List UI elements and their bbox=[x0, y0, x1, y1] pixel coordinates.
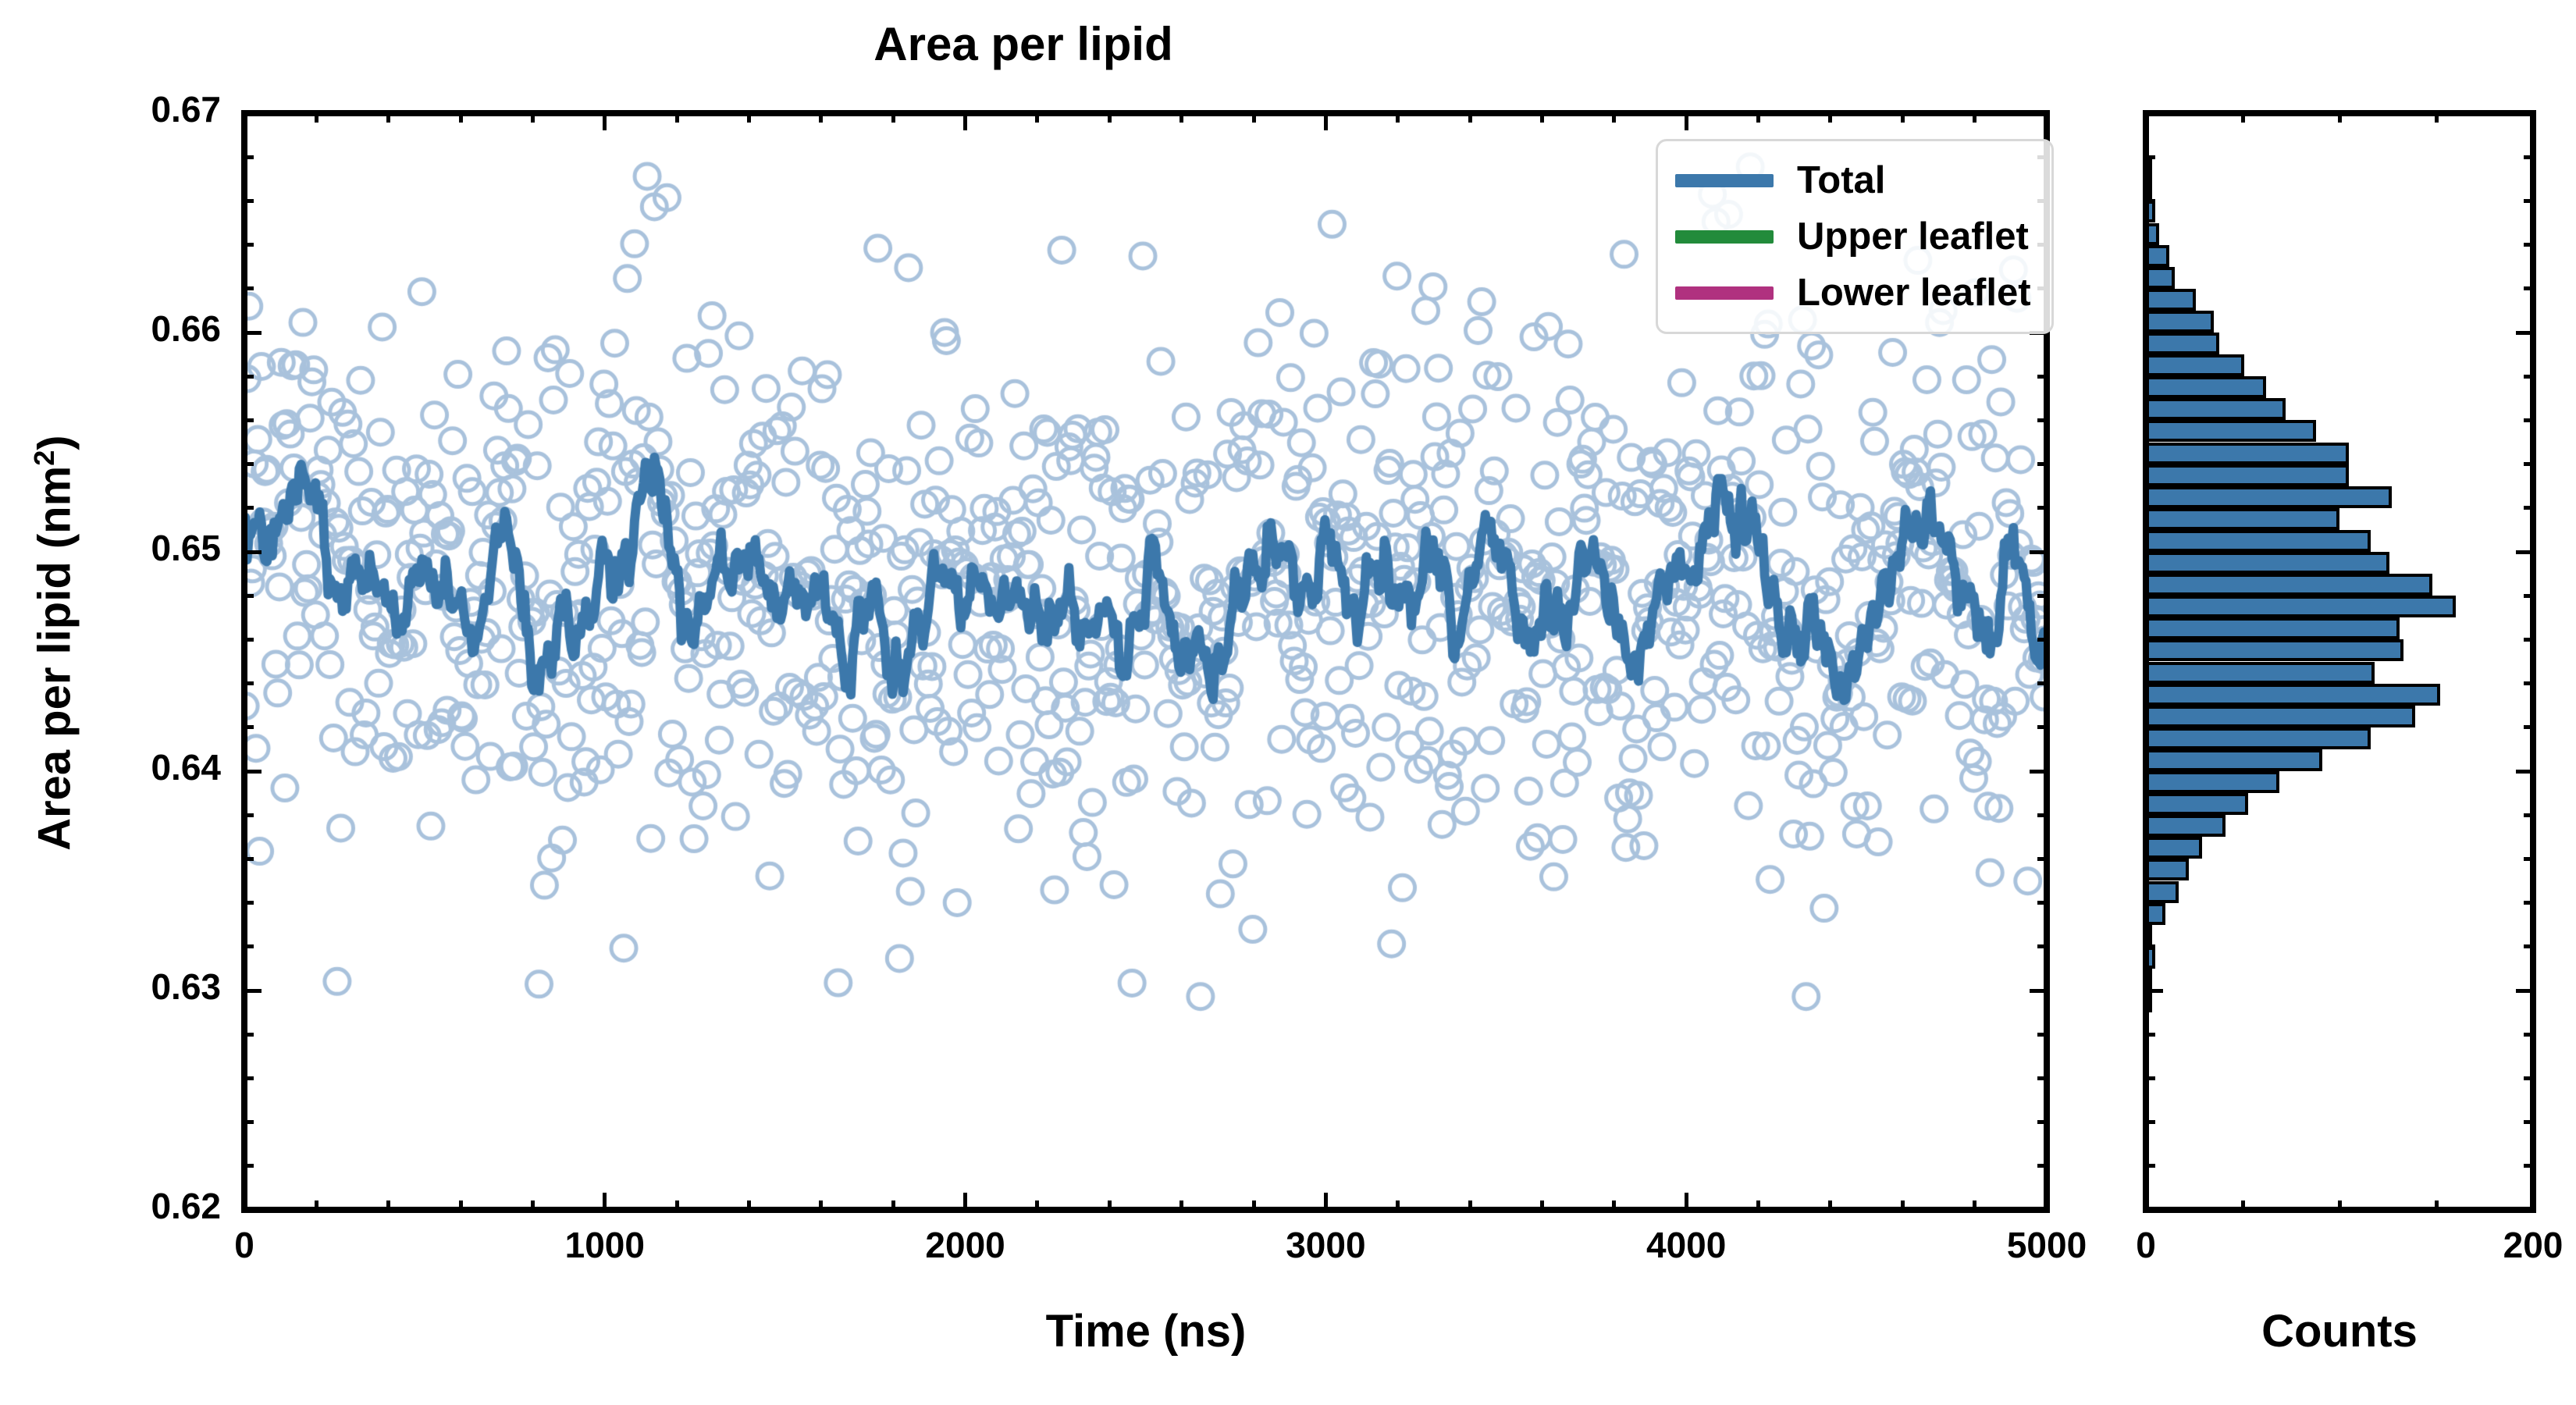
y-minor-tick bbox=[244, 594, 254, 598]
chart-title: Area per lipid bbox=[0, 17, 2047, 71]
histogram-bar bbox=[2146, 706, 2415, 727]
x-minor-tick-top bbox=[1901, 113, 1905, 123]
x-major-tick bbox=[1324, 1193, 1328, 1210]
legend-entry-upper-leaflet[interactable]: Upper leaflet bbox=[1675, 208, 2031, 265]
x-minor-tick-top bbox=[1468, 113, 1472, 123]
legend-swatch-upper-leaflet bbox=[1675, 230, 1774, 244]
legend-entry-lower-leaflet[interactable]: Lower leaflet bbox=[1675, 265, 2031, 321]
hist-y-minor-tick-right bbox=[2524, 681, 2533, 685]
hist-y-major-tick-right bbox=[2516, 989, 2533, 993]
hist-x-tick-label: 0 bbox=[2029, 1224, 2263, 1266]
histogram-bar bbox=[2146, 684, 2440, 706]
y-major-tick bbox=[244, 550, 262, 554]
x-minor-tick bbox=[675, 1200, 679, 1210]
histogram-bar bbox=[2146, 793, 2248, 815]
x-minor-tick bbox=[1252, 1200, 1256, 1210]
y-minor-tick bbox=[244, 638, 254, 642]
legend-swatch-total bbox=[1675, 174, 1774, 187]
y-minor-tick bbox=[244, 1076, 254, 1080]
hist-y-minor-tick-right bbox=[2524, 725, 2533, 729]
x-major-tick-top bbox=[963, 113, 967, 130]
x-minor-tick-top bbox=[1179, 113, 1183, 123]
hist-y-minor-tick bbox=[2146, 857, 2155, 861]
histogram-bar bbox=[2146, 727, 2371, 749]
histogram-bar bbox=[2146, 354, 2244, 376]
x-major-tick-top bbox=[603, 113, 607, 130]
hist-x-minor-tick bbox=[2241, 1200, 2245, 1210]
x-minor-tick bbox=[531, 1200, 535, 1210]
histogram-bar bbox=[2146, 530, 2371, 552]
hist-y-minor-tick-right bbox=[2524, 1120, 2533, 1124]
histogram-bar bbox=[2146, 969, 2152, 991]
hist-y-minor-tick bbox=[2146, 155, 2155, 159]
histogram-bar bbox=[2146, 267, 2175, 289]
hist-y-minor-tick-right bbox=[2524, 418, 2533, 422]
hist-y-major-tick-right bbox=[2516, 550, 2533, 554]
x-major-tick-top bbox=[243, 113, 247, 130]
legend: Total Upper leaflet Lower leaflet bbox=[1656, 139, 2054, 334]
hist-y-minor-tick-right bbox=[2524, 638, 2533, 642]
hist-y-minor-tick bbox=[2146, 243, 2155, 247]
y-minor-tick bbox=[244, 243, 254, 247]
x-minor-tick-top bbox=[819, 113, 823, 123]
y-major-tick bbox=[244, 1208, 262, 1212]
histogram-bar bbox=[2146, 903, 2165, 925]
x-minor-tick-top bbox=[675, 113, 679, 123]
figure-canvas: Area per lipid Area per lipid (nm2) 0100… bbox=[0, 0, 2576, 1405]
histogram-bar bbox=[2146, 398, 2286, 420]
x-minor-tick bbox=[747, 1200, 751, 1210]
y-major-tick-right bbox=[2030, 112, 2047, 116]
hist-y-minor-tick bbox=[2146, 375, 2155, 379]
histogram-bar bbox=[2146, 223, 2159, 245]
histogram-bar bbox=[2146, 311, 2214, 333]
hist-y-minor-tick bbox=[2146, 418, 2155, 422]
y-tick-label: 0.63 bbox=[2, 966, 221, 1008]
hist-y-minor-tick-right bbox=[2524, 375, 2533, 379]
x-tick-label: 4000 bbox=[1569, 1224, 1803, 1266]
y-axis-title-superscript: 2 bbox=[28, 450, 60, 466]
histogram-bars bbox=[2146, 113, 2533, 1210]
histogram-bar bbox=[2146, 991, 2152, 1012]
hist-x-tick-label: 200 bbox=[2416, 1224, 2576, 1266]
x-major-tick bbox=[1685, 1193, 1688, 1210]
histogram-bar bbox=[2146, 157, 2152, 179]
x-minor-tick bbox=[1468, 1200, 1472, 1210]
y-minor-tick-right bbox=[2037, 1120, 2047, 1124]
y-minor-tick bbox=[244, 375, 254, 379]
main-axis-top-spine bbox=[241, 110, 2050, 116]
histogram-bar bbox=[2146, 617, 2400, 639]
y-minor-tick bbox=[244, 813, 254, 817]
legend-swatch-lower-leaflet bbox=[1675, 286, 1774, 300]
y-major-tick bbox=[244, 331, 262, 335]
histogram-bar bbox=[2146, 639, 2403, 661]
hist-x-major-tick-top bbox=[2144, 113, 2148, 130]
x-minor-tick-top bbox=[747, 113, 751, 123]
hist-x-axis-title: Counts bbox=[2143, 1305, 2536, 1357]
x-minor-tick-top bbox=[1756, 113, 1760, 123]
y-minor-tick-right bbox=[2037, 594, 2047, 598]
histogram-bar bbox=[2146, 574, 2432, 596]
x-major-tick bbox=[603, 1193, 607, 1210]
y-minor-tick-right bbox=[2037, 1033, 2047, 1037]
x-minor-tick bbox=[1540, 1200, 1544, 1210]
hist-y-minor-tick-right bbox=[2524, 901, 2533, 905]
y-major-tick bbox=[244, 112, 262, 116]
x-tick-label: 2000 bbox=[849, 1224, 1083, 1266]
histogram-bar bbox=[2146, 443, 2349, 464]
x-minor-tick bbox=[459, 1200, 463, 1210]
hist-y-minor-tick bbox=[2146, 1033, 2155, 1037]
hist-y-minor-tick bbox=[2146, 901, 2155, 905]
hist-y-minor-tick bbox=[2146, 1164, 2155, 1168]
hist-y-minor-tick bbox=[2146, 462, 2155, 466]
histogram-bar bbox=[2146, 464, 2349, 486]
histogram-bar bbox=[2146, 881, 2179, 903]
hist-y-minor-tick-right bbox=[2524, 857, 2533, 861]
legend-entry-total[interactable]: Total bbox=[1675, 152, 2031, 208]
hist-y-minor-tick-right bbox=[2524, 243, 2533, 247]
x-minor-tick-top bbox=[1035, 113, 1039, 123]
hist-y-minor-tick bbox=[2146, 944, 2155, 948]
hist-y-major-tick bbox=[2146, 331, 2163, 335]
y-minor-tick-right bbox=[2037, 418, 2047, 422]
histogram-bar bbox=[2146, 947, 2155, 969]
hist-y-minor-tick-right bbox=[2524, 944, 2533, 948]
y-axis-title-tail: ) bbox=[30, 435, 80, 450]
histogram-bar bbox=[2146, 925, 2152, 947]
main-axis-bottom-spine bbox=[241, 1207, 2050, 1213]
y-minor-tick bbox=[244, 462, 254, 466]
y-minor-tick bbox=[244, 681, 254, 685]
y-minor-tick-right bbox=[2037, 638, 2047, 642]
hist-y-minor-tick bbox=[2146, 506, 2155, 510]
y-major-tick-right bbox=[2030, 550, 2047, 554]
y-minor-tick bbox=[244, 944, 254, 948]
x-minor-tick-top bbox=[891, 113, 895, 123]
y-major-tick-right bbox=[2030, 770, 2047, 774]
hist-y-minor-tick-right bbox=[2524, 286, 2533, 290]
x-minor-tick bbox=[1828, 1200, 1832, 1210]
hist-y-major-tick bbox=[2146, 1208, 2163, 1212]
x-minor-tick-top bbox=[386, 113, 390, 123]
x-major-tick bbox=[963, 1193, 967, 1210]
hist-y-major-tick bbox=[2146, 770, 2163, 774]
y-minor-tick-right bbox=[2037, 813, 2047, 817]
hist-y-major-tick bbox=[2146, 550, 2163, 554]
x-minor-tick bbox=[1756, 1200, 1760, 1210]
histogram-bar bbox=[2146, 289, 2196, 311]
x-axis-title: Time (ns) bbox=[0, 1305, 2292, 1357]
y-minor-tick-right bbox=[2037, 375, 2047, 379]
x-tick-label: 0 bbox=[127, 1224, 361, 1266]
hist-x-minor-tick bbox=[2435, 1200, 2439, 1210]
x-minor-tick-top bbox=[459, 113, 463, 123]
legend-label-lower-leaflet: Lower leaflet bbox=[1797, 274, 2031, 312]
x-minor-tick bbox=[1108, 1200, 1112, 1210]
hist-y-major-tick-right bbox=[2516, 770, 2533, 774]
histogram-bar bbox=[2146, 837, 2202, 859]
histogram-bar bbox=[2146, 596, 2456, 617]
main-axis-left-spine bbox=[241, 110, 247, 1213]
histogram-bar bbox=[2146, 486, 2392, 508]
histogram-bar bbox=[2146, 179, 2152, 201]
hist-y-minor-tick bbox=[2146, 199, 2155, 203]
y-tick-label: 0.64 bbox=[2, 746, 221, 788]
x-minor-tick-top bbox=[1828, 113, 1832, 123]
hist-y-minor-tick-right bbox=[2524, 462, 2533, 466]
hist-y-minor-tick-right bbox=[2524, 199, 2533, 203]
hist-y-minor-tick-right bbox=[2524, 155, 2533, 159]
x-minor-tick-top bbox=[1973, 113, 1976, 123]
y-minor-tick-right bbox=[2037, 506, 2047, 510]
x-major-tick-top bbox=[2045, 113, 2049, 130]
histogram-bar bbox=[2146, 201, 2155, 222]
histogram-bar bbox=[2146, 420, 2316, 442]
y-tick-label: 0.66 bbox=[2, 308, 221, 350]
hist-x-minor-tick-top bbox=[2241, 113, 2245, 123]
histogram-bar bbox=[2146, 815, 2226, 837]
hist-y-minor-tick bbox=[2146, 681, 2155, 685]
hist-y-minor-tick bbox=[2146, 286, 2155, 290]
y-minor-tick-right bbox=[2037, 681, 2047, 685]
y-minor-tick-right bbox=[2037, 1076, 2047, 1080]
y-tick-label: 0.62 bbox=[2, 1185, 221, 1227]
y-minor-tick bbox=[244, 286, 254, 290]
x-minor-tick bbox=[891, 1200, 895, 1210]
histogram-bar bbox=[2146, 376, 2266, 398]
histogram-bar bbox=[2146, 245, 2169, 267]
y-minor-tick-right bbox=[2037, 944, 2047, 948]
y-tick-label: 0.65 bbox=[2, 527, 221, 569]
hist-y-major-tick-right bbox=[2516, 112, 2533, 116]
hist-y-minor-tick-right bbox=[2524, 594, 2533, 598]
hist-y-minor-tick bbox=[2146, 638, 2155, 642]
hist-y-minor-tick-right bbox=[2524, 1033, 2533, 1037]
y-minor-tick bbox=[244, 506, 254, 510]
histogram-bar bbox=[2146, 662, 2375, 684]
x-major-tick-top bbox=[1685, 113, 1688, 130]
x-minor-tick bbox=[386, 1200, 390, 1210]
histogram-bar bbox=[2146, 859, 2189, 880]
x-minor-tick bbox=[315, 1200, 318, 1210]
histogram-bar bbox=[2146, 771, 2279, 793]
x-minor-tick-top bbox=[1252, 113, 1256, 123]
y-minor-tick-right bbox=[2037, 901, 2047, 905]
y-major-tick-right bbox=[2030, 1208, 2047, 1212]
y-major-tick bbox=[244, 770, 262, 774]
histogram-bar bbox=[2146, 749, 2322, 771]
y-minor-tick-right bbox=[2037, 1164, 2047, 1168]
hist-x-minor-tick bbox=[2338, 1200, 2342, 1210]
x-tick-label: 3000 bbox=[1208, 1224, 1443, 1266]
hist-x-minor-tick-top bbox=[2435, 113, 2439, 123]
y-minor-tick bbox=[244, 1120, 254, 1124]
hist-y-major-tick bbox=[2146, 112, 2163, 116]
hist-y-minor-tick-right bbox=[2524, 1076, 2533, 1080]
y-tick-label: 0.67 bbox=[2, 88, 221, 130]
legend-label-upper-leaflet: Upper leaflet bbox=[1797, 218, 2029, 256]
y-minor-tick bbox=[244, 418, 254, 422]
hist-x-major-tick-top bbox=[2532, 113, 2535, 130]
x-minor-tick-top bbox=[1396, 113, 1400, 123]
y-major-tick bbox=[244, 989, 262, 993]
hist-y-minor-tick bbox=[2146, 725, 2155, 729]
y-minor-tick bbox=[244, 1033, 254, 1037]
y-minor-tick bbox=[244, 725, 254, 729]
hist-y-minor-tick-right bbox=[2524, 813, 2533, 817]
y-minor-tick-right bbox=[2037, 462, 2047, 466]
hist-y-major-tick-right bbox=[2516, 1208, 2533, 1212]
y-minor-tick bbox=[244, 901, 254, 905]
histogram-bar bbox=[2146, 333, 2219, 354]
y-minor-tick bbox=[244, 857, 254, 861]
x-minor-tick bbox=[819, 1200, 823, 1210]
x-minor-tick-top bbox=[315, 113, 318, 123]
y-axis-title: Area per lipid (nm2) bbox=[28, 292, 80, 994]
hist-y-major-tick-right bbox=[2516, 331, 2533, 335]
x-minor-tick bbox=[1035, 1200, 1039, 1210]
legend-label-total: Total bbox=[1797, 162, 1885, 200]
y-major-tick-right bbox=[2030, 989, 2047, 993]
hist-x-minor-tick-top bbox=[2338, 113, 2342, 123]
hist-y-minor-tick bbox=[2146, 1120, 2155, 1124]
y-minor-tick-right bbox=[2037, 725, 2047, 729]
x-minor-tick bbox=[1179, 1200, 1183, 1210]
x-tick-label: 1000 bbox=[488, 1224, 722, 1266]
x-minor-tick-top bbox=[1108, 113, 1112, 123]
hist-y-major-tick bbox=[2146, 989, 2163, 993]
x-minor-tick-top bbox=[1540, 113, 1544, 123]
hist-y-minor-tick bbox=[2146, 813, 2155, 817]
y-minor-tick bbox=[244, 155, 254, 159]
y-minor-tick-right bbox=[2037, 857, 2047, 861]
x-major-tick-top bbox=[1324, 113, 1328, 130]
x-minor-tick bbox=[1973, 1200, 1976, 1210]
hist-y-minor-tick-right bbox=[2524, 506, 2533, 510]
x-minor-tick-top bbox=[531, 113, 535, 123]
x-minor-tick-top bbox=[1612, 113, 1616, 123]
y-minor-tick bbox=[244, 1164, 254, 1168]
x-minor-tick bbox=[1901, 1200, 1905, 1210]
x-minor-tick bbox=[1396, 1200, 1400, 1210]
histogram-bar bbox=[2146, 552, 2389, 574]
y-axis-title-text: Area per lipid (nm bbox=[30, 466, 80, 851]
y-minor-tick bbox=[244, 199, 254, 203]
hist-y-minor-tick bbox=[2146, 1076, 2155, 1080]
histogram-bar bbox=[2146, 508, 2339, 530]
x-minor-tick bbox=[1612, 1200, 1616, 1210]
hist-y-minor-tick bbox=[2146, 594, 2155, 598]
hist-y-minor-tick-right bbox=[2524, 1164, 2533, 1168]
